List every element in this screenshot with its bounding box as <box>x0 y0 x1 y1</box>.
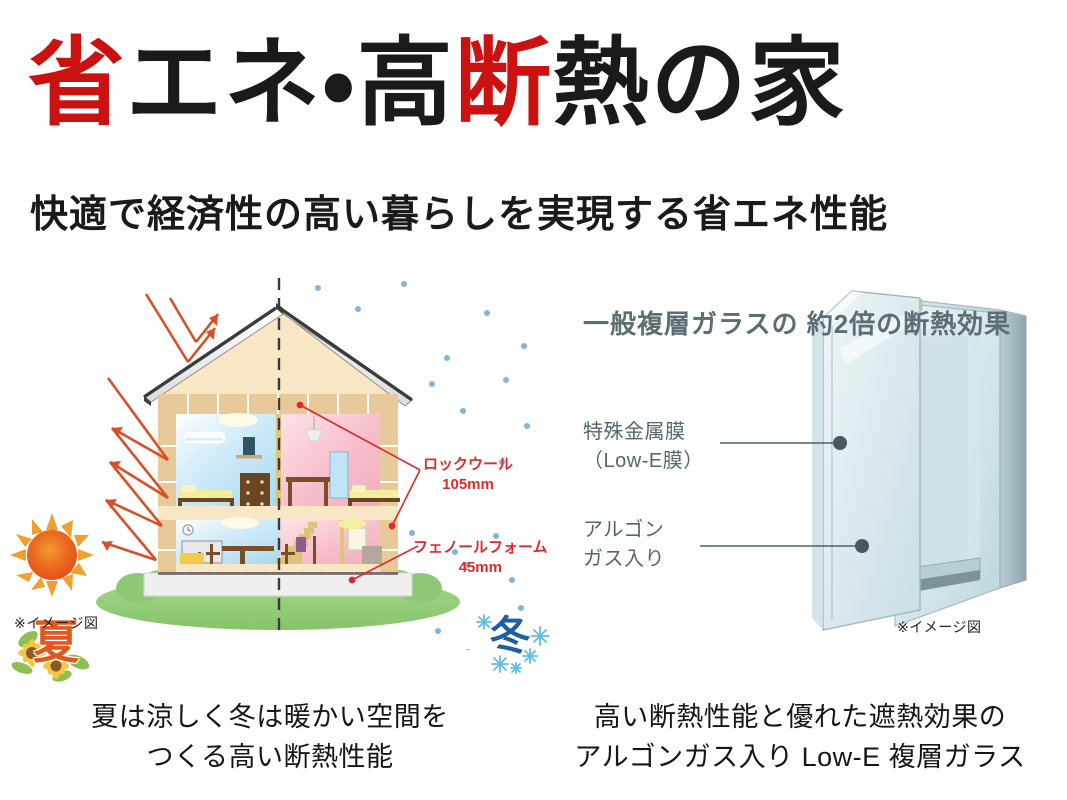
label-low-e-film: 特殊金属膜 （Low-E膜） <box>583 418 704 476</box>
lower-door <box>362 546 382 564</box>
ceiling-light-1 <box>218 413 258 427</box>
infographic-root: 省エネ・高断熱の家 快適で経済性の高い暮らしを実現する省エネ性能 <box>0 0 1067 800</box>
small-object <box>296 537 306 552</box>
house-insulation-panel: 夏 <box>0 250 540 650</box>
page-title: 省エネ・高断熱の家 <box>28 30 847 138</box>
rockwool-dot-wall <box>389 523 396 530</box>
ceiling-light-2 <box>221 517 259 529</box>
caption-right-line2: アルゴンガス入り Low-E 複層ガラス <box>540 738 1060 778</box>
wall-shelf <box>236 455 262 459</box>
sofa <box>180 553 204 564</box>
label-low-e-line1: 特殊金属膜 <box>583 418 704 447</box>
glass-heading: 一般複層ガラスの 約2倍の断熱効果 <box>583 306 1011 343</box>
winter-kanji: 冬 <box>490 616 530 656</box>
callout-phenolfoam: フェノールフォーム 45mm <box>413 538 548 578</box>
label-low-e-line2: （Low-E膜） <box>583 447 704 476</box>
label-argon-gas: アルゴン ガス入り <box>583 516 665 574</box>
air-conditioner <box>182 431 226 444</box>
ceiling-light-3 <box>338 519 366 529</box>
callout-rockwool-line1: ロックウール <box>423 455 513 475</box>
title-part-1: 省 <box>28 30 126 137</box>
glass-heading-line2: 約2倍の断熱効果 <box>807 309 1011 339</box>
phenol-dot <box>349 577 356 584</box>
callout-phenolfoam-line1: フェノールフォーム <box>413 538 548 558</box>
label-argon-line2: ガス入り <box>583 545 665 574</box>
callout-rockwool-line2: 105mm <box>423 475 513 495</box>
left-image-note: ※イメージ図 <box>14 613 98 633</box>
caption-left-line1: 夏は涼しく冬は暖かい空間を <box>60 698 480 738</box>
rockwool-dot-ceiling <box>297 402 304 409</box>
caption-right: 高い断熱性能と優れた遮熱効果の アルゴンガス入り Low-E 複層ガラス <box>540 698 1060 778</box>
caption-right-line1: 高い断熱性能と優れた遮熱効果の <box>540 698 1060 738</box>
title-part-3: 断 <box>455 30 553 137</box>
caption-left: 夏は涼しく冬は暖かい空間を つくる高い断熱性能 <box>60 698 480 778</box>
upper-shelf-box <box>243 437 255 455</box>
low-e-dot <box>833 436 847 450</box>
title-part-4: 熱の家 <box>553 30 847 137</box>
glass-pane-left-shadow <box>812 318 823 630</box>
right-image-note: ※イメージ図 <box>897 617 981 637</box>
caption-left-line2: つくる高い断熱性能 <box>60 738 480 778</box>
glass-heading-line1: 一般複層ガラスの <box>583 309 798 339</box>
argon-dot <box>855 539 869 553</box>
page-subtitle: 快適で経済性の高い暮らしを実現する省エネ性能 <box>30 183 888 238</box>
sun-icon <box>10 513 94 597</box>
title-part-2: エネ・高 <box>126 30 455 137</box>
glass-panel: 一般複層ガラスの 約2倍の断熱効果 特殊金属膜 （Low-E膜） アルゴン ガス… <box>540 258 1067 653</box>
door-upper <box>330 452 348 498</box>
label-argon-line1: アルゴン <box>583 516 665 545</box>
callout-rockwool: ロックウール 105mm <box>423 455 513 495</box>
callout-phenolfoam-line2: 45mm <box>413 558 548 578</box>
glass-edge-right <box>1000 310 1026 588</box>
